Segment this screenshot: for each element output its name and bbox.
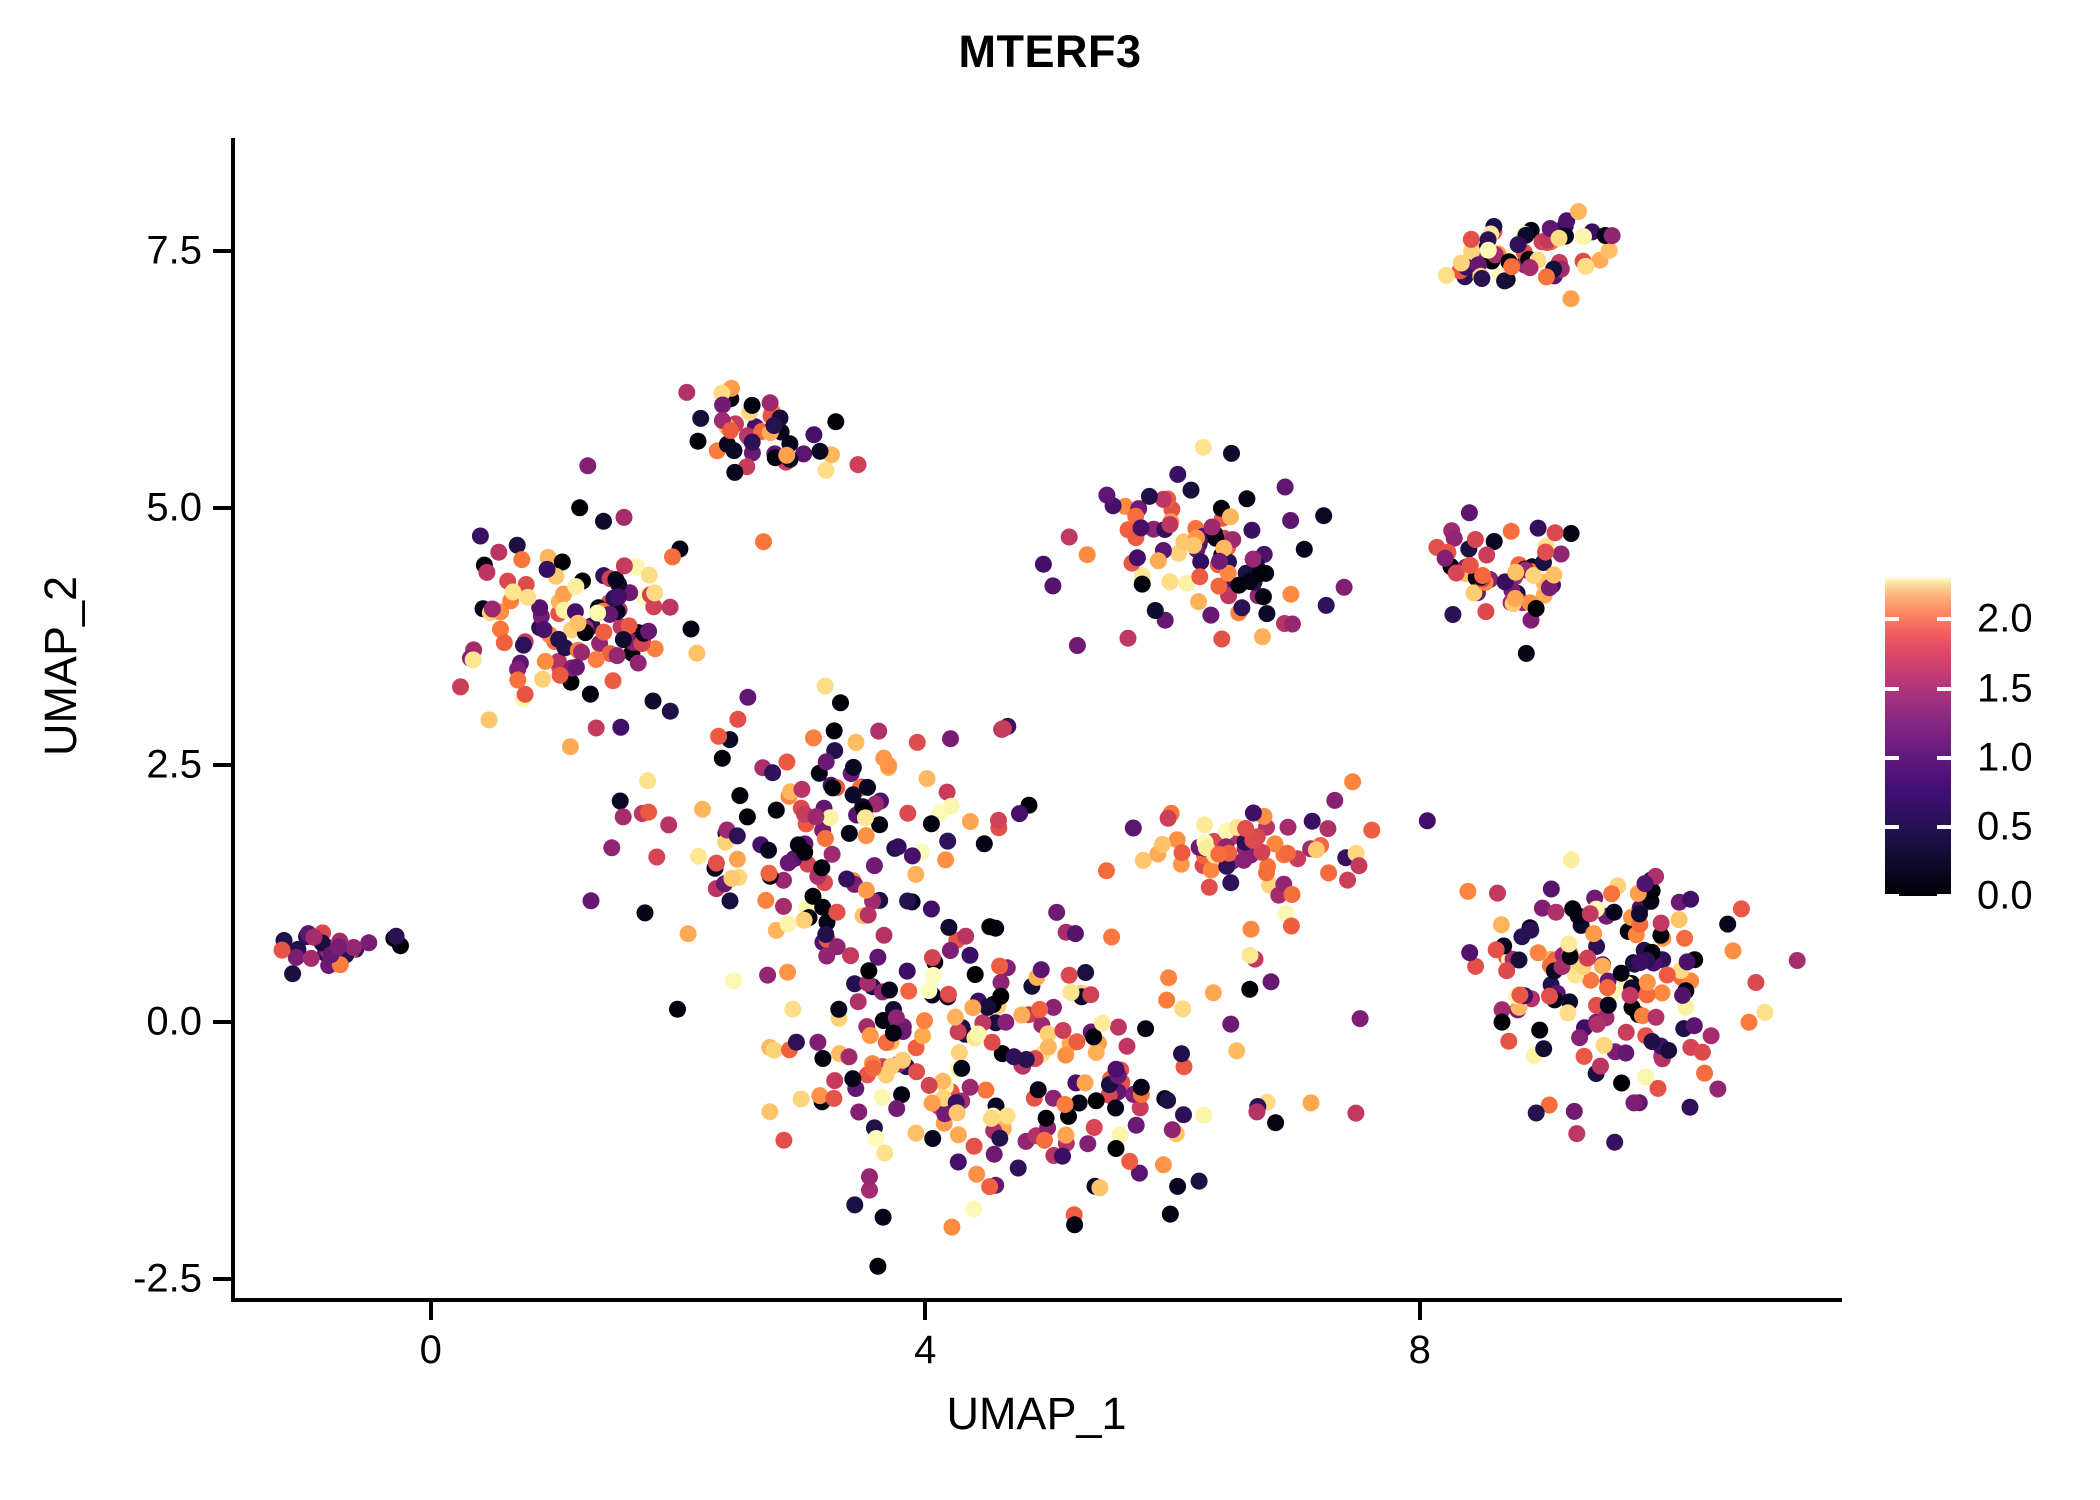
scatter-point — [1057, 1047, 1074, 1064]
scatter-point — [1462, 557, 1479, 574]
page-title: MTERF3 — [0, 26, 2100, 78]
scatter-point — [1066, 1216, 1083, 1233]
scatter-point — [1639, 974, 1656, 991]
x-tick-label: 8 — [1409, 1328, 1431, 1373]
scatter-point — [999, 1108, 1016, 1125]
scatter-point — [360, 934, 377, 951]
scatter-point — [1241, 573, 1258, 590]
scatter-point — [1243, 522, 1260, 539]
scatter-point — [694, 801, 711, 818]
scatter-point — [1653, 915, 1670, 932]
scatter-point — [481, 711, 498, 728]
y-tick-mark — [213, 763, 231, 767]
scatter-point — [951, 1044, 968, 1061]
scatter-point — [830, 1001, 847, 1018]
scatter-point — [603, 839, 620, 856]
scatter-point — [824, 846, 841, 863]
scatter-point — [1318, 597, 1335, 614]
scatter-point — [950, 1154, 967, 1171]
scatter-point — [1191, 568, 1208, 585]
figure-root: MTERF3 -2.50.02.55.07.5 048 UMAP_1 UMAP_… — [0, 0, 2100, 1500]
scatter-point — [605, 672, 622, 689]
scatter-point — [1183, 482, 1200, 499]
scatter-point — [1632, 954, 1649, 971]
scatter-point — [1543, 881, 1560, 898]
scatter-point — [953, 1060, 970, 1077]
scatter-point — [1596, 1037, 1613, 1054]
scatter-point — [1164, 1121, 1181, 1138]
scatter-point — [925, 967, 942, 984]
scatter-point — [1077, 1074, 1094, 1091]
scatter-point — [1185, 537, 1202, 554]
scatter-point — [807, 808, 824, 825]
scatter-point — [1223, 445, 1240, 462]
scatter-point — [755, 533, 772, 550]
scatter-point — [1061, 967, 1078, 984]
scatter-point — [761, 865, 778, 882]
scatter-point — [1011, 805, 1028, 822]
scatter-point — [859, 779, 876, 796]
scatter-point — [1160, 810, 1177, 827]
scatter-point — [645, 693, 662, 710]
y-axis-title: UMAP_2 — [35, 85, 87, 1247]
scatter-point — [1068, 1033, 1085, 1050]
scatter-point — [562, 738, 579, 755]
scatter-point — [760, 842, 777, 859]
scatter-point — [1162, 516, 1179, 533]
colorbar-tick-mark — [1937, 756, 1951, 760]
scatter-point — [1204, 519, 1221, 536]
scatter-point — [818, 948, 835, 965]
scatter-point — [757, 892, 774, 909]
scatter-point — [583, 892, 600, 909]
scatter-point — [858, 882, 875, 899]
scatter-point — [1568, 1125, 1585, 1142]
scatter-point — [660, 816, 677, 833]
scatter-point — [1545, 567, 1562, 584]
scatter-point — [968, 1166, 985, 1183]
scatter-point — [862, 1027, 879, 1044]
scatter-point — [1613, 965, 1630, 982]
scatter-point — [1682, 891, 1699, 908]
scatter-point — [569, 615, 586, 632]
scatter-point — [640, 623, 657, 640]
scatter-point — [962, 947, 979, 964]
scatter-point — [1108, 1061, 1125, 1078]
scatter-point — [1283, 918, 1300, 935]
scatter-point — [796, 912, 813, 929]
scatter-point — [1438, 267, 1455, 284]
scatter-point — [1498, 962, 1515, 979]
y-axis-line — [231, 138, 235, 1302]
scatter-point — [1566, 1103, 1583, 1120]
scatter-point — [809, 1034, 826, 1051]
scatter-point — [924, 949, 941, 966]
scatter-point — [1613, 1075, 1630, 1092]
scatter-point — [1258, 605, 1275, 622]
scatter-point — [1444, 606, 1461, 623]
scatter-point — [977, 1082, 994, 1099]
scatter-point — [305, 929, 322, 946]
scatter-point — [942, 942, 959, 959]
scatter-point — [573, 644, 590, 661]
scatter-point — [539, 561, 556, 578]
scatter-point — [1169, 466, 1186, 483]
scatter-point — [1339, 872, 1356, 889]
scatter-point — [1563, 525, 1580, 542]
scatter-point — [1228, 1042, 1245, 1059]
y-tick-mark — [213, 506, 231, 510]
scatter-point — [1648, 1009, 1665, 1026]
scatter-point — [610, 588, 627, 605]
scatter-point — [908, 1125, 925, 1142]
scatter-point — [1067, 925, 1084, 942]
scatter-point — [284, 965, 301, 982]
scatter-point — [609, 647, 626, 664]
scatter-point — [496, 634, 513, 651]
scatter-point — [1119, 1038, 1136, 1055]
scatter-point — [1600, 997, 1617, 1014]
scatter-point — [1351, 857, 1368, 874]
scatter-point — [962, 1079, 979, 1096]
scatter-point — [1242, 947, 1259, 964]
scatter-point — [1150, 552, 1167, 569]
scatter-point — [1461, 504, 1478, 521]
scatter-point — [943, 1219, 960, 1236]
scatter-point — [919, 770, 936, 787]
scatter-point — [995, 720, 1012, 737]
scatter-point — [845, 786, 862, 803]
scatter-point — [490, 544, 507, 561]
scatter-point — [1120, 630, 1137, 647]
scatter-point — [779, 964, 796, 981]
scatter-point — [866, 857, 883, 874]
scatter-point — [876, 927, 893, 944]
scatter-point — [1147, 602, 1164, 619]
scatter-point — [1086, 1119, 1103, 1136]
scatter-point — [1110, 1019, 1127, 1036]
scatter-point — [1031, 1001, 1048, 1018]
scatter-point — [846, 1196, 863, 1213]
scatter-point — [1618, 1024, 1635, 1041]
scatter-point — [916, 1012, 933, 1029]
scatter-point — [739, 689, 756, 706]
scatter-point — [1201, 879, 1218, 896]
scatter-point — [1696, 1065, 1713, 1082]
scatter-point — [465, 651, 482, 668]
scatter-point — [796, 844, 813, 861]
scatter-point — [615, 808, 632, 825]
scatter-point — [1088, 1044, 1105, 1061]
scatter-point — [1296, 541, 1313, 558]
scatter-point — [388, 928, 405, 945]
scatter-point — [857, 809, 874, 826]
scatter-point — [909, 734, 926, 751]
scatter-point — [1192, 553, 1209, 570]
scatter-point — [1637, 875, 1654, 892]
scatter-point — [940, 986, 957, 1003]
scatter-point — [692, 410, 709, 427]
scatter-point — [923, 901, 940, 918]
scatter-point — [744, 434, 761, 451]
scatter-point — [1437, 550, 1454, 567]
colorbar-tick-label: 2.0 — [1977, 597, 2033, 642]
scatter-point — [722, 892, 739, 909]
scatter-point — [1036, 1132, 1053, 1149]
scatter-point — [970, 1026, 987, 1043]
scatter-point — [966, 1138, 983, 1155]
scatter-point — [899, 893, 916, 910]
scatter-point — [1601, 242, 1618, 259]
scatter-point — [1137, 1020, 1154, 1037]
scatter-point — [764, 764, 781, 781]
scatter-point — [1603, 885, 1620, 902]
scatter-point — [648, 849, 665, 866]
scatter-point — [1644, 1033, 1661, 1050]
scatter-point — [957, 928, 974, 945]
scatter-point — [1141, 488, 1158, 505]
scatter-point — [519, 589, 536, 606]
scatter-point — [1135, 852, 1152, 869]
scatter-point — [983, 1110, 1000, 1127]
scatter-point — [1617, 1045, 1634, 1062]
scatter-point — [1654, 984, 1671, 1001]
scatter-point — [1571, 1029, 1588, 1046]
y-tick-label: -2.5 — [133, 1257, 202, 1302]
scatter-point — [1575, 228, 1592, 245]
scatter-point — [874, 1089, 891, 1106]
scatter-point — [981, 918, 998, 935]
scatter-point — [1577, 258, 1594, 275]
scatter-point — [1195, 1107, 1212, 1124]
scatter-point — [729, 711, 746, 728]
scatter-point — [778, 447, 795, 464]
scatter-point — [1243, 921, 1260, 938]
scatter-point — [805, 729, 822, 746]
scatter-point — [1277, 479, 1294, 496]
scatter-point — [1599, 979, 1616, 996]
scatter-point — [1453, 255, 1470, 272]
scatter-point — [731, 787, 748, 804]
scatter-point — [900, 983, 917, 1000]
x-tick-label: 4 — [914, 1328, 936, 1373]
scatter-point — [967, 966, 984, 983]
scatter-point — [1530, 944, 1547, 961]
scatter-point — [841, 825, 858, 842]
scatter-point — [1459, 883, 1476, 900]
scatter-point — [1154, 836, 1171, 853]
scatter-point — [775, 898, 792, 915]
scatter-point — [739, 808, 756, 825]
scatter-point — [1579, 950, 1596, 967]
scatter-point — [726, 442, 743, 459]
scatter-point — [1048, 904, 1065, 921]
scatter-point — [1056, 1096, 1073, 1113]
scatter-point — [1010, 1160, 1027, 1177]
scatter-point — [744, 397, 761, 414]
scatter-point — [1637, 1069, 1654, 1086]
scatter-point — [1195, 439, 1212, 456]
scatter-point — [881, 982, 898, 999]
scatter-point — [1733, 900, 1750, 917]
scatter-point — [890, 838, 907, 855]
scatter-point — [766, 1042, 783, 1059]
scatter-point — [1686, 1017, 1703, 1034]
scatter-point — [775, 1132, 792, 1149]
scatter-point — [678, 384, 695, 401]
scatter-point — [1203, 862, 1220, 879]
scatter-point — [1079, 546, 1096, 563]
scatter-point — [1255, 588, 1272, 605]
scatter-point — [1018, 1051, 1035, 1068]
scatter-point — [793, 1091, 810, 1108]
scatter-point — [848, 734, 865, 751]
scatter-point — [726, 464, 743, 481]
scatter-point — [1631, 905, 1648, 922]
scatter-point — [860, 962, 877, 979]
scatter-point — [1241, 981, 1258, 998]
scatter-point — [571, 499, 588, 516]
scatter-point — [1528, 600, 1545, 617]
scatter-point — [1660, 1042, 1677, 1059]
scatter-point — [1258, 864, 1275, 881]
scatter-point — [1585, 925, 1602, 942]
scatter-point — [1162, 1206, 1179, 1223]
x-tick-mark — [923, 1302, 927, 1320]
scatter-point — [793, 781, 810, 798]
scatter-point — [1233, 599, 1250, 616]
scatter-point — [683, 621, 700, 638]
y-tick-mark — [213, 249, 231, 253]
scatter-point — [1159, 1092, 1176, 1109]
colorbar-tick-label: 1.0 — [1977, 735, 2033, 780]
scatter-point — [921, 1077, 938, 1094]
y-tick-label: 5.0 — [146, 486, 202, 531]
scatter-point — [1606, 1134, 1623, 1151]
scatter-point — [1511, 987, 1528, 1004]
scatter-point — [1507, 590, 1524, 607]
scatter-point — [950, 1126, 967, 1143]
scatter-point — [861, 1168, 878, 1185]
scatter-point — [850, 456, 867, 473]
scatter-point — [943, 798, 960, 815]
scatter-point — [1088, 1092, 1105, 1109]
scatter-point — [766, 417, 783, 434]
scatter-point — [1503, 523, 1520, 540]
scatter-point — [1098, 862, 1115, 879]
scatter-point — [842, 947, 859, 964]
scatter-point — [813, 859, 830, 876]
scatter-point — [888, 1100, 905, 1117]
scatter-point — [947, 1009, 964, 1026]
scatter-point — [330, 938, 347, 955]
scatter-point — [1128, 1117, 1145, 1134]
colorbar-tick-mark — [1885, 687, 1899, 691]
scatter-point — [1500, 1033, 1517, 1050]
scatter-point — [780, 916, 797, 933]
scatter-point — [1488, 941, 1505, 958]
scatter-point — [1530, 520, 1547, 537]
scatter-point — [708, 855, 725, 872]
scatter-point — [1245, 551, 1262, 568]
scatter-point — [869, 1258, 886, 1275]
scatter-point — [991, 1130, 1008, 1147]
scatter-point — [1589, 1016, 1606, 1033]
scatter-point — [1035, 556, 1052, 573]
scatter-point — [1267, 1114, 1284, 1131]
scatter-point — [1284, 886, 1301, 903]
colorbar-tick-mark — [1937, 617, 1951, 621]
scatter-point — [640, 804, 657, 821]
scatter-point — [1582, 905, 1599, 922]
scatter-point — [1133, 1079, 1150, 1096]
scatter-point — [1703, 1027, 1720, 1044]
scatter-point — [1205, 984, 1222, 1001]
scatter-point — [914, 1027, 931, 1044]
scatter-point — [784, 1001, 801, 1018]
y-tick-label: 7.5 — [146, 229, 202, 274]
scatter-point — [1671, 911, 1688, 928]
scatter-point — [1134, 576, 1151, 593]
scatter-point — [1235, 852, 1252, 869]
scatter-point — [841, 1048, 858, 1065]
scatter-point — [1564, 900, 1581, 917]
scatter-point — [817, 926, 834, 943]
scatter-point — [579, 457, 596, 474]
scatter-point — [1725, 942, 1742, 959]
colorbar-tick-mark — [1885, 825, 1899, 829]
scatter-point — [920, 982, 937, 999]
colorbar-tick-mark — [1937, 687, 1951, 691]
scatter-point — [1553, 546, 1570, 563]
scatter-point — [949, 1104, 966, 1121]
scatter-point — [1129, 549, 1146, 566]
scatter-point — [1336, 579, 1353, 596]
scatter-point — [688, 645, 705, 662]
scatter-point — [860, 907, 877, 924]
scatter-point — [1740, 1014, 1757, 1031]
colorbar-gradient — [1885, 578, 1951, 896]
scatter-point — [1551, 230, 1568, 247]
scatter-point — [924, 1130, 941, 1147]
scatter-point — [664, 548, 681, 565]
scatter-point — [1121, 1153, 1138, 1170]
scatter-point — [1169, 1178, 1186, 1195]
scatter-point — [1622, 987, 1639, 1004]
scatter-point — [1173, 1045, 1190, 1062]
colorbar-tick-mark — [1937, 825, 1951, 829]
scatter-point — [814, 1050, 831, 1067]
scatter-point — [1493, 916, 1510, 933]
scatter-point — [826, 1072, 843, 1089]
scatter-point — [1263, 973, 1280, 990]
scatter-point — [991, 958, 1008, 975]
scatter-point — [937, 851, 954, 868]
scatter-point — [1082, 986, 1099, 1003]
scatter-point — [805, 426, 822, 443]
scatter-point — [1541, 988, 1558, 1005]
scatter-point — [850, 1104, 867, 1121]
scatter-point — [1033, 961, 1050, 978]
scatter-point — [1284, 616, 1301, 633]
scatter-point — [1320, 864, 1337, 881]
scatter-point — [1079, 1135, 1096, 1152]
scatter-point — [1659, 967, 1676, 984]
scatter-point — [1625, 1094, 1642, 1111]
scatter-point — [1238, 490, 1255, 507]
scatter-point — [818, 462, 835, 479]
scatter-point — [1054, 1148, 1071, 1165]
